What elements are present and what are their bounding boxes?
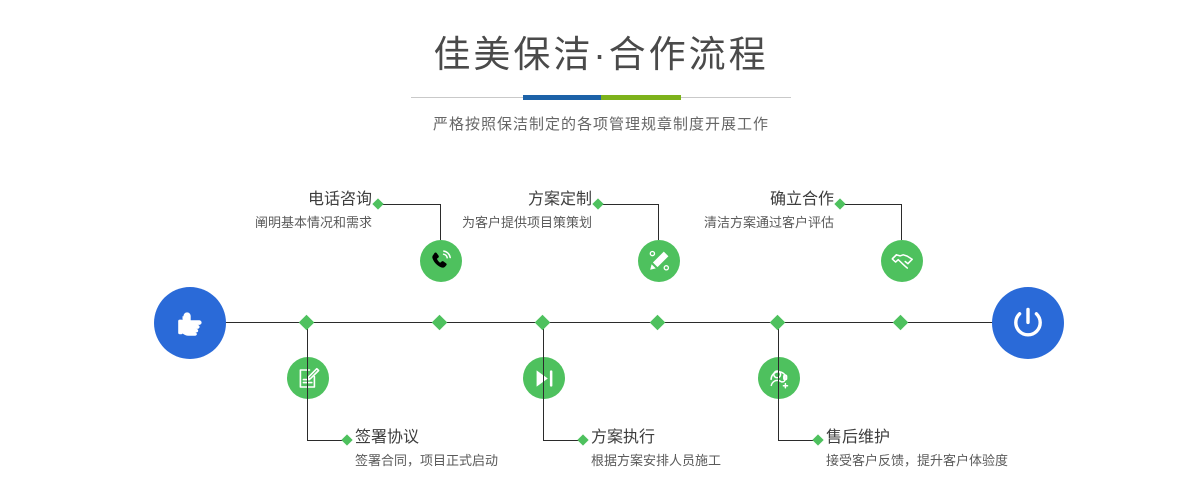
step-label-top-2: 方案定制 为客户提供项目策策划 <box>370 190 592 233</box>
step-node-top-2[interactable] <box>638 240 680 282</box>
step-desc: 接受客户反馈，提升客户体验度 <box>826 451 1106 471</box>
connector-vertical-top-3 <box>901 204 902 240</box>
step-node-top-3[interactable] <box>881 240 923 282</box>
step-title: 方案定制 <box>370 190 592 210</box>
connector-tick-bottom-1 <box>341 434 352 445</box>
step-title: 方案执行 <box>591 428 841 448</box>
power-icon <box>1007 302 1049 344</box>
axis-diamond-top-2 <box>650 315 666 331</box>
document-sign-icon <box>297 367 320 390</box>
step-label-top-3: 确立合作 清洁方案通过客户评估 <box>610 190 834 233</box>
step-title: 确立合作 <box>610 190 834 210</box>
connector-vertical-bottom-2 <box>543 322 544 440</box>
step-node-bottom-2[interactable] <box>523 357 565 399</box>
step-desc: 清洁方案通过客户评估 <box>610 213 834 233</box>
step-title: 签署协议 <box>355 428 605 448</box>
connector-vertical-bottom-1 <box>307 322 308 440</box>
step-title: 电话咨询 <box>150 190 372 210</box>
step-node-bottom-1[interactable] <box>287 357 329 399</box>
customer-service-icon <box>767 366 791 390</box>
connector-horizontal-top-3 <box>840 204 901 205</box>
connector-tick-top-2 <box>592 198 603 209</box>
step-label-top-1: 电话咨询 阐明基本情况和需求 <box>150 190 372 233</box>
axis-diamond-bottom-1 <box>299 315 315 331</box>
axis-diamond-top-3 <box>893 315 909 331</box>
timeline-start-node[interactable] <box>154 287 226 359</box>
timeline-end-node[interactable] <box>992 287 1064 359</box>
process-timeline: 电话咨询 阐明基本情况和需求 方案定制 为客户提供项目策策划 <box>0 0 1202 502</box>
step-desc: 为客户提供项目策策划 <box>370 213 592 233</box>
step-label-bottom-3: 售后维护 接受客户反馈，提升客户体验度 <box>826 428 1106 471</box>
step-node-top-1[interactable] <box>420 240 462 282</box>
step-label-bottom-1: 签署协议 签署合同，项目正式启动 <box>355 428 605 471</box>
connector-vertical-bottom-3 <box>778 322 779 440</box>
axis-diamond-bottom-2 <box>535 315 551 331</box>
step-label-bottom-2: 方案执行 根据方案安排人员施工 <box>591 428 841 471</box>
step-node-bottom-3[interactable] <box>758 357 800 399</box>
step-desc: 阐明基本情况和需求 <box>150 213 372 233</box>
axis-diamond-top-1 <box>432 315 448 331</box>
step-desc: 根据方案安排人员施工 <box>591 451 841 471</box>
step-title: 售后维护 <box>826 428 1106 448</box>
connector-tick-top-3 <box>834 198 845 209</box>
axis-diamond-bottom-3 <box>770 315 786 331</box>
phone-call-icon <box>429 249 453 273</box>
play-execute-icon <box>533 367 556 390</box>
step-desc: 签署合同，项目正式启动 <box>355 451 605 471</box>
pointing-hand-icon <box>170 303 210 343</box>
handshake-icon <box>890 249 915 274</box>
pencil-design-icon <box>647 249 671 273</box>
